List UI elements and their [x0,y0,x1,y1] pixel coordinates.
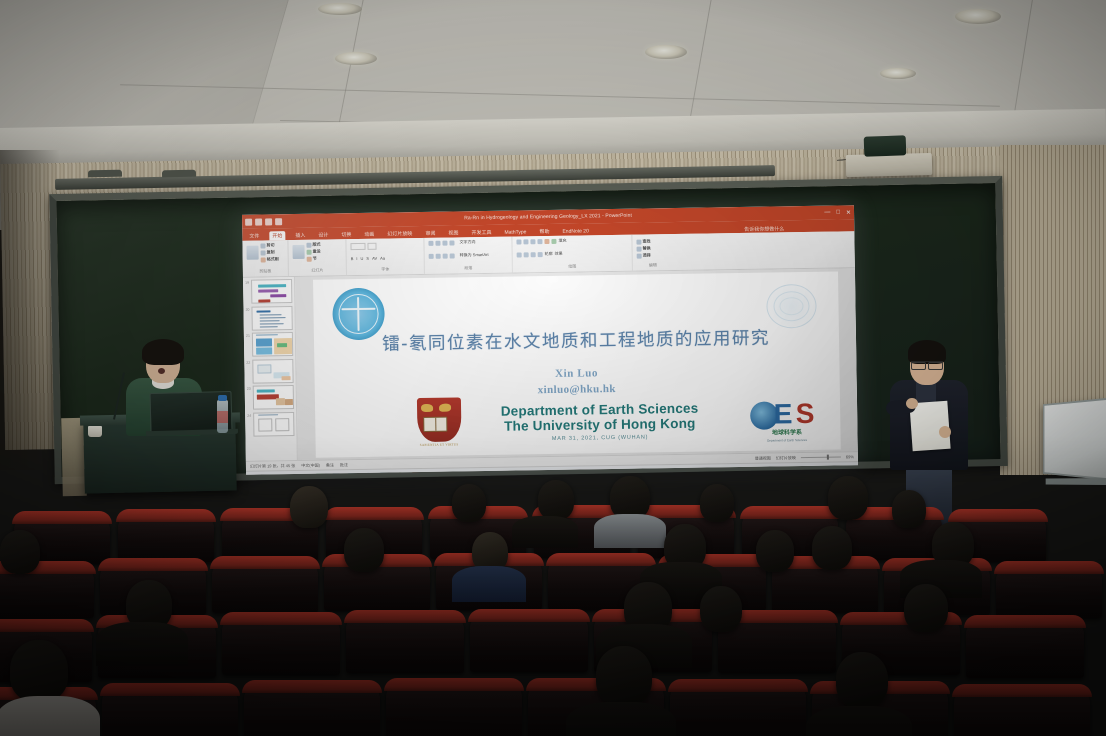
powerpoint-window: Ra-Rn in Hydrogeology and Engineering Ge… [242,205,858,475]
thumbnail-item[interactable]: 21 [245,332,294,357]
group-label-clipboard: 剪贴板 [247,268,284,275]
ceiling-downlight [880,68,916,79]
tab-review[interactable]: 审阅 [422,229,438,238]
align-left-icon[interactable] [429,253,434,258]
shape-outline-item[interactable]: 轮廓 [545,251,553,257]
comments-button[interactable]: 批注 [340,462,348,468]
char-spacing-button[interactable]: AV [372,256,377,261]
numbering-icon[interactable] [435,240,440,245]
audience-head [756,530,794,572]
ceiling-seam [337,0,363,130]
shape-star-icon[interactable] [524,252,529,257]
thumbnail-number: 21 [245,333,250,338]
smartart-item[interactable]: 转换为 SmartArt [460,252,489,258]
thumbnail-number: 23 [246,386,251,391]
des-logo-icon: E S 地球科学系 Department of Earth Sciences [749,397,824,442]
section-item[interactable]: 节 [307,256,321,262]
projector-mount [864,135,907,156]
align-right-icon[interactable] [443,253,448,258]
thumbnail-number: 19 [244,280,249,285]
seat [670,684,806,736]
tab-developer[interactable]: 开发工具 [468,228,494,237]
thumbnail-item[interactable]: 20 [244,306,293,331]
seat [966,620,1084,678]
slide-thumbnail-pane[interactable]: 19 20 [243,277,298,461]
thumbnail-preview[interactable] [252,359,293,384]
bottle-label [217,411,228,423]
seat [470,614,588,672]
thumbnail-preview[interactable] [253,385,294,410]
seat [386,683,522,736]
notes-button[interactable]: 备注 [326,462,334,468]
shape-fill-item[interactable]: 填充 [558,238,566,244]
window-controls[interactable]: — □ ✕ [824,209,851,216]
group-label-editing: 编辑 [637,262,669,269]
audience-shoulders [96,622,188,666]
audience-shoulders [566,702,676,736]
seat [102,688,238,736]
speaker-glasses [911,361,943,367]
status-right-cluster[interactable]: 普通视图 幻灯片放映 69% [755,454,854,462]
thumbnail-preview[interactable] [251,306,292,331]
strikethrough-button[interactable]: S [366,256,369,261]
thumbnail-preview[interactable] [253,412,294,437]
thumbnail-item[interactable]: 19 [244,279,293,304]
tab-file[interactable]: 文件 [246,232,262,241]
ribbon-group-drawing: 填充 轮廓 效果 绘图 [512,235,633,273]
reset-item[interactable]: 重设 [307,249,321,255]
shape-line-icon[interactable] [537,239,542,244]
audience-head [828,476,868,520]
current-slide[interactable]: 镭-氡同位素在水文地质和工程地质的应用研究 Xin Luo xinluo@hku… [313,271,841,457]
view-slideshow-button[interactable]: 幻灯片放映 [776,455,796,461]
speaker-left-hand [906,398,918,409]
underline-button[interactable]: U [360,256,363,261]
slide-editing-area[interactable]: 镭-氡同位素在水文地质和工程地质的应用研究 Xin Luo xinluo@hku… [295,268,858,460]
ceiling-projector [846,153,933,177]
text-direction-item[interactable]: 文字方向 [459,239,475,245]
increase-indent-icon[interactable] [449,240,454,245]
cut-item[interactable]: 剪切 [260,242,278,248]
tab-transitions[interactable]: 切换 [338,230,354,239]
des-letter-s: S [795,399,814,427]
audience-head [538,480,574,520]
justify-icon[interactable] [450,253,455,258]
ribbon-group-editing: 查找 替换 选择 编辑 [632,234,673,271]
shape-rect-icon[interactable] [516,239,521,244]
thumbnail-item[interactable]: 24 [246,412,295,437]
des-logo-chinese: 地球科学系 [750,426,824,436]
seat [222,617,340,675]
speaker-right-hand [939,426,951,438]
quick-styles-icon[interactable] [544,238,549,243]
restore-icon[interactable]: □ [836,209,840,215]
font-size-box[interactable] [368,243,377,250]
audience-shoulders [512,516,578,548]
thumbnail-preview[interactable] [252,332,293,357]
audience-shoulders [0,696,100,736]
board-clip [162,170,196,178]
ceiling-downlight [318,3,362,15]
tab-view[interactable]: 视图 [445,228,461,237]
audience-head [904,584,948,632]
ceiling-downlight [955,9,1001,24]
ceiling-downlight [645,45,687,59]
audience-seating [0,470,1106,736]
powerpoint-body: 19 20 [243,268,858,461]
des-letter-e: E [773,400,792,428]
decrease-indent-icon[interactable] [442,240,447,245]
cug-logo-ring-icon [338,293,379,334]
shape-banner-icon[interactable] [538,252,543,257]
hku-crest-motto: SAPIENTIA ET VIRTUS [411,442,467,447]
slide-email: xinluo@hku.hk [314,379,839,399]
arrange-icon[interactable] [551,238,556,243]
group-label-drawing: 绘图 [517,263,628,271]
slide-date-venue: MAR 31, 2021, CUG (WUHAN) [475,433,725,443]
group-label-font: 字体 [351,266,420,273]
close-icon[interactable]: ✕ [846,209,851,216]
view-normal-button[interactable]: 普通视图 [755,455,771,461]
shape-effects-item[interactable]: 效果 [555,251,563,257]
paste-icon[interactable] [246,246,258,260]
slide-indicator: 幻灯片第 19 张，共 45 张 [250,463,295,470]
language-indicator[interactable]: 中文(中国) [301,462,320,468]
paper-cup [88,426,102,437]
format-painter-item[interactable]: 格式刷 [261,256,279,262]
audience-head [344,528,384,572]
ribbon-group-clipboard: 剪切 复制 格式刷 剪贴板 [242,240,289,277]
audience-head [892,490,926,528]
select-item[interactable]: 选择 [637,252,669,259]
projected-screen: Ra-Rn in Hydrogeology and Engineering Ge… [242,205,858,475]
slide-title: 镭-氡同位素在水文地质和工程地质的应用研究 [313,323,838,356]
lecture-hall-scene: Ra-Rn in Hydrogeology and Engineering Ge… [0,0,1106,736]
operator-hair [142,339,184,365]
tab-slideshow[interactable]: 幻灯片放映 [384,229,415,238]
layout-item[interactable]: 版式 [306,242,320,248]
des-logo-english: Department of Earth Sciences [750,437,824,442]
align-center-icon[interactable] [436,253,441,258]
new-slide-icon[interactable] [292,245,304,259]
copy-item[interactable]: 复制 [261,249,279,255]
tab-animations[interactable]: 动画 [361,230,377,239]
thumbnail-preview[interactable] [251,279,292,304]
change-case-button[interactable]: Aa [380,256,385,261]
seat [954,689,1090,736]
audience-head [290,486,328,528]
department-line-2: The University of Hong Kong [475,415,725,434]
thumbnail-item[interactable]: 23 [246,385,295,410]
audience-shoulders [452,566,526,602]
audience-head [836,652,888,708]
ribbon-group-font: B I U S AV Aa 字体 [346,238,425,275]
audience-head [812,526,852,570]
bottle-cap [218,395,227,401]
seat [346,615,464,673]
bullets-icon[interactable] [428,240,433,245]
ceiling-downlight [335,52,377,65]
seat [244,685,380,736]
audience-shoulders [594,514,666,548]
seat [996,566,1102,618]
tab-design[interactable]: 设计 [315,230,331,239]
minimize-icon[interactable]: — [824,210,830,216]
tab-insert[interactable]: 插入 [292,231,308,240]
shape-arrow-icon[interactable] [530,239,535,244]
italic-button[interactable]: I [356,256,357,261]
thumbnail-number: 22 [245,359,250,364]
audience-shoulders [806,706,912,736]
audience-head [596,646,652,706]
bold-button[interactable]: B [351,256,354,261]
thumbnail-item[interactable]: 22 [245,359,294,384]
audience-head [10,640,68,702]
side-whiteboard [1043,398,1106,480]
ribbon-group-slides: 版式 重设 节 幻灯片 [288,239,347,276]
group-label-paragraph: 段落 [429,265,508,272]
hku-seal-icon [766,283,817,328]
hku-crest-icon: SAPIENTIA ET VIRTUS [412,397,465,448]
department-block: Department of Earth Sciences The Univers… [474,400,725,443]
tab-help[interactable]: 帮助 [536,227,552,236]
microphone-head [158,368,165,374]
thumbnail-number: 20 [244,306,249,311]
board-clip [88,170,122,178]
find-item[interactable]: 查找 [636,238,668,245]
shape-tri-icon[interactable] [517,252,522,257]
audience-head [700,484,734,522]
audience-head [452,484,486,522]
replace-item[interactable]: 替换 [637,245,669,252]
audience-head [700,586,742,632]
thumbnail-number: 24 [246,412,251,417]
zoom-level[interactable]: 69% [846,454,854,459]
group-label-slides: 幻灯片 [293,267,342,274]
shape-callout-icon[interactable] [531,252,536,257]
ceiling-seam [689,0,711,120]
seat [212,561,318,613]
seat [118,514,214,562]
audience-head [0,530,40,574]
tab-home[interactable]: 开始 [269,231,285,240]
shape-oval-icon[interactable] [523,239,528,244]
ribbon-group-paragraph: 文字方向 转换为 SmartArt 段落 [424,237,513,274]
zoom-slider[interactable] [801,456,841,458]
font-name-box[interactable] [350,243,365,250]
